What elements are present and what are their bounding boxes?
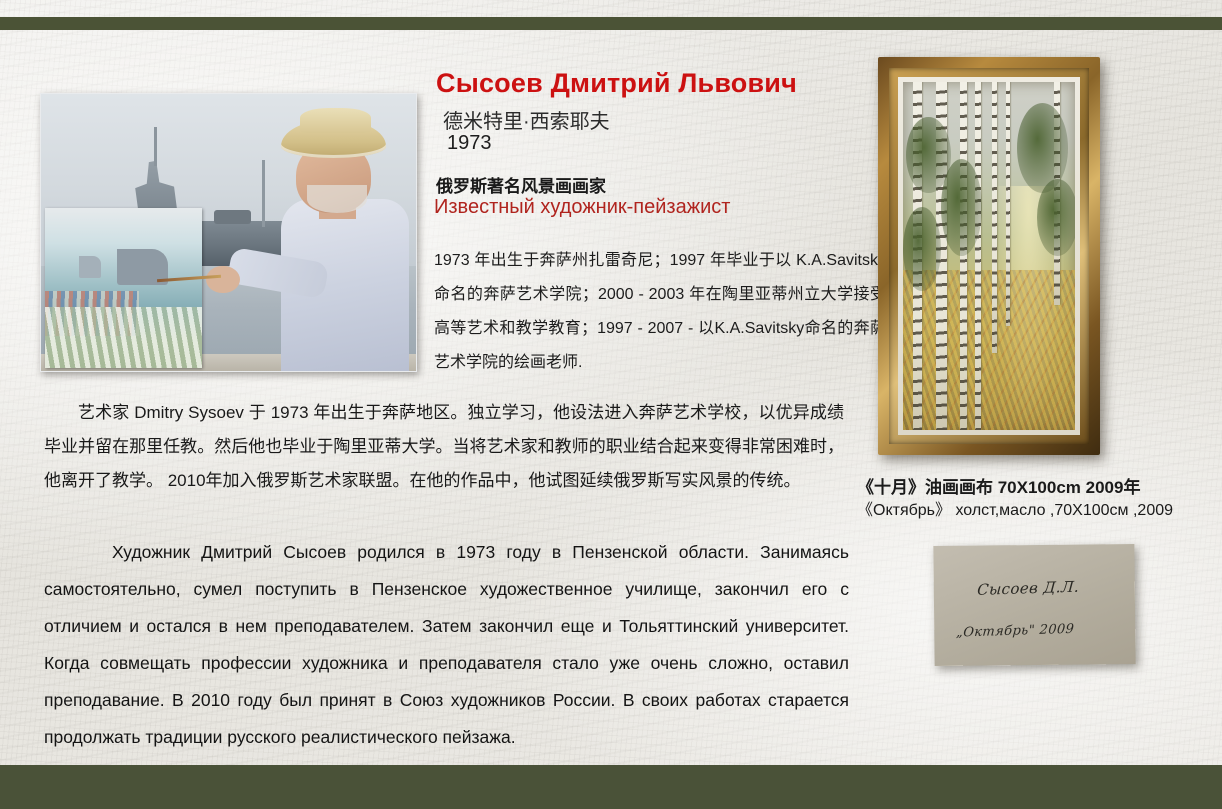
birch-trunk xyxy=(1006,82,1010,326)
handwritten-inscription: Сысоев Д.Л. „Октябрь" 2009 холст. масло.… xyxy=(944,554,1135,666)
artist-name-russian: Сысоев Дмитрий Львович xyxy=(436,68,797,99)
painting-artwork-october xyxy=(903,82,1075,430)
photo-warship-gun xyxy=(214,210,252,224)
painting-caption: 《十月》油画画布 70X100cm 2009年 《Октябрь》 холст,… xyxy=(857,476,1222,523)
painting-caption-chinese: 《十月》油画画布 70X100cm 2009年 xyxy=(857,476,1222,499)
birch-trunk xyxy=(960,82,967,430)
inscription-line-artist: Сысоев Д.Л. xyxy=(976,575,1132,601)
biography-chinese-short: 1973 年出生于奔萨州扎雷奇尼；1997 年毕业于以 K.A.Savitsky… xyxy=(434,244,886,380)
artist-birth-year: 1973 xyxy=(447,132,492,155)
artist-subtitle-russian: Известный художник-пейзажист xyxy=(434,196,730,219)
photo-artist-hand xyxy=(206,266,240,294)
foliage-clump xyxy=(941,159,982,256)
artist-photo xyxy=(40,93,417,372)
foliage-clump xyxy=(903,207,941,291)
photo-warship-mast-aft xyxy=(262,160,265,226)
photo-easel-ship-small xyxy=(79,256,101,278)
poster-page: Сысоев Дмитрий Львович 德米特里·西索耶夫 1973 俄罗… xyxy=(0,0,1222,809)
birch-trunk xyxy=(975,82,981,430)
photo-straw-hat-crown xyxy=(300,108,371,133)
foliage-clump xyxy=(1037,179,1075,256)
top-accent-band xyxy=(0,17,1222,30)
inscription-line-medium: холст. масло. xyxy=(962,659,1126,666)
photo-easel-water xyxy=(45,307,203,368)
painting-caption-russian: 《Октябрь》 холст,масло ,70X100см ,2009 xyxy=(857,499,1222,523)
artist-subtitle-chinese: 俄罗斯著名风景画画家 xyxy=(436,172,606,197)
painting-verso-label: Сысоев Д.Л. „Октябрь" 2009 холст. масло.… xyxy=(933,544,1135,666)
bottom-accent-band xyxy=(0,765,1222,809)
inscription-line-title: „Октябрь" 2009 xyxy=(955,617,1129,643)
painting-leaf-litter xyxy=(903,270,1075,430)
birch-trunk xyxy=(992,82,997,353)
photo-easel-canvas xyxy=(45,208,203,369)
artist-photo-image xyxy=(41,94,416,371)
artist-name-chinese: 德米特里·西索耶夫 xyxy=(443,105,610,134)
framed-painting xyxy=(878,57,1100,455)
biography-paragraph-russian: Художник Дмитрий Сысоев родился в 1973 г… xyxy=(44,534,849,756)
photo-warship-mast xyxy=(154,127,157,166)
biography-paragraph-chinese: 艺术家 Dmitry Sysoev 于 1973 年出生于奔萨地区。独立学习，他… xyxy=(44,396,844,498)
